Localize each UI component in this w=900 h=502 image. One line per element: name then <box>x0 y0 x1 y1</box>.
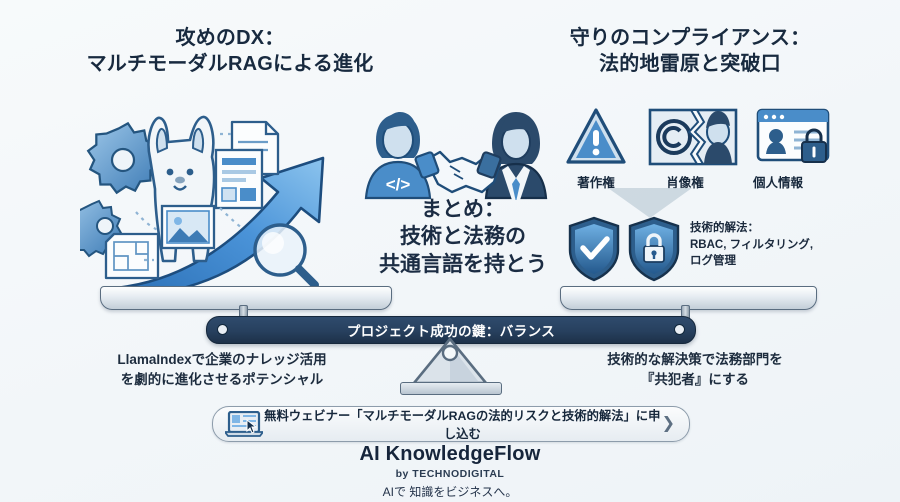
copyright-portrait-torn-icon <box>650 110 736 164</box>
heading-right: 守りのコンプライアンス：法的地雷原と突破口 <box>500 26 880 77</box>
beam-pivot-dot-right <box>674 324 685 335</box>
caption-left: LlamaIndexで企業のナレッジ活用を劇的に進化させるポテンシャル <box>72 350 372 389</box>
blueprint-icon <box>106 234 158 278</box>
brand-tagline: AIで 知識をビジネスへ。 <box>0 483 900 500</box>
shield-lock-icon <box>630 218 678 280</box>
caption-right: 技術的な解決策で法務部門を『共犯者』にする <box>545 350 845 389</box>
brand-name: AI KnowledgeFlow <box>0 443 900 466</box>
icon-label-personal-info: 個人情報 <box>738 172 818 191</box>
technical-solution-note: 技術的解法：RBAC, フィルタリング,ログ管理 <box>690 220 840 270</box>
dx-illustration <box>80 100 360 300</box>
chevron-right-icon[interactable]: ❯ <box>662 416 675 432</box>
webinar-cta-button[interactable]: 無料ウェビナー「マルチモーダルRAGの法的リスクと技術的解法」に申し込む ❯ <box>212 406 690 442</box>
scale-fulcrum <box>412 337 488 385</box>
solution-shields <box>568 216 682 282</box>
infographic-canvas: 攻めのDX：マルチモーダルRAGによる進化 守りのコンプライアンス：法的地雷原と… <box>0 0 900 502</box>
heading-left: 攻めのDX：マルチモーダルRAGによる進化 <box>40 26 420 77</box>
shield-check-icon <box>570 218 618 280</box>
down-arrow-icon <box>608 188 692 218</box>
beam-pivot-dot-left <box>217 324 228 335</box>
gear-large-icon <box>88 123 158 192</box>
brand-byline: by TECHNODIGITAL <box>0 468 900 480</box>
svg-text:</>: </> <box>386 175 411 194</box>
brand-footer: AI KnowledgeFlow by TECHNODIGITAL AIで 知識… <box>0 443 900 500</box>
scale-base <box>400 382 502 395</box>
handshake-illustration: </> <box>358 104 554 200</box>
report-document-icon <box>216 150 262 208</box>
magnifier-icon <box>255 225 315 285</box>
cta-label: 無料ウェビナー「マルチモーダルRAGの法的リスクと技術的解法」に申し込む <box>263 406 662 442</box>
laptop-cursor-icon <box>225 411 263 437</box>
warning-triangle-icon <box>568 110 624 162</box>
browser-person-lock-icon <box>758 110 828 162</box>
summary-text: まとめ：技術と法務の共通言語を持とう <box>348 196 578 278</box>
image-icon <box>162 206 214 248</box>
compliance-icons <box>566 106 832 168</box>
